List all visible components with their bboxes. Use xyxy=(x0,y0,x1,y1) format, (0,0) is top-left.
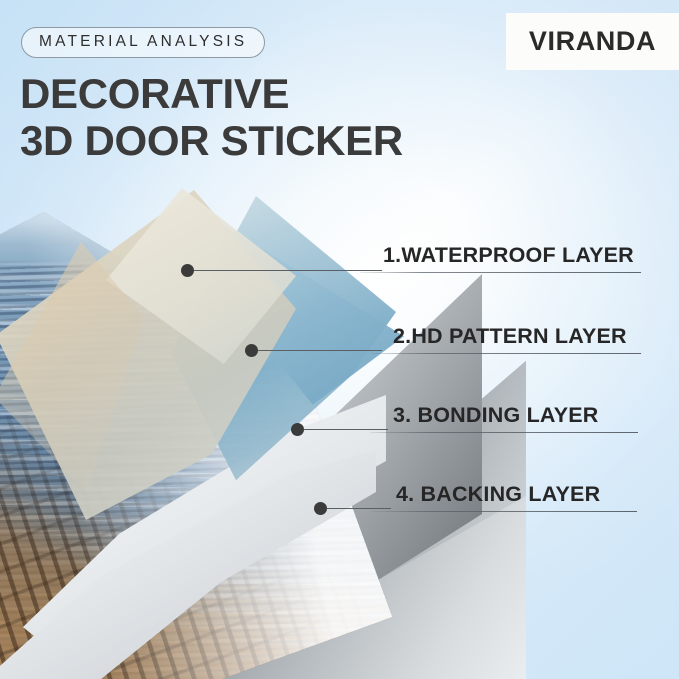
callout-rule-4 xyxy=(370,511,637,512)
callout-leader-line-1 xyxy=(194,270,382,271)
brand-logo-text: VIRANDA xyxy=(529,26,656,57)
callout-dot-3 xyxy=(291,423,304,436)
callout-rule-2 xyxy=(370,353,641,354)
callout-leader-line-3 xyxy=(304,429,388,430)
callout-label-4: 4. BACKING LAYER xyxy=(396,482,600,507)
brand-logo-box: VIRANDA xyxy=(506,13,679,70)
page-title: DECORATIVE 3D DOOR STICKER xyxy=(20,70,403,164)
callout-rule-3 xyxy=(370,432,638,433)
callout-label-3: 3. BONDING LAYER xyxy=(393,403,599,428)
material-analysis-badge: MATERIAL ANALYSIS xyxy=(21,27,265,58)
callout-label-2: 2.HD PATTERN LAYER xyxy=(393,324,627,349)
page-title-line-2: 3D DOOR STICKER xyxy=(20,117,403,164)
callout-dot-1 xyxy=(181,264,194,277)
callout-dot-4 xyxy=(314,502,327,515)
callout-leader-line-2 xyxy=(258,350,382,351)
callout-dot-2 xyxy=(245,344,258,357)
callout-label-1: 1.WATERPROOF LAYER xyxy=(383,243,634,268)
poster: 1.WATERPROOF LAYER 2.HD PATTERN LAYER 3.… xyxy=(0,0,679,679)
page-title-line-1: DECORATIVE xyxy=(20,70,289,117)
callout-leader-line-4 xyxy=(327,508,391,509)
callout-rule-1 xyxy=(360,272,641,273)
